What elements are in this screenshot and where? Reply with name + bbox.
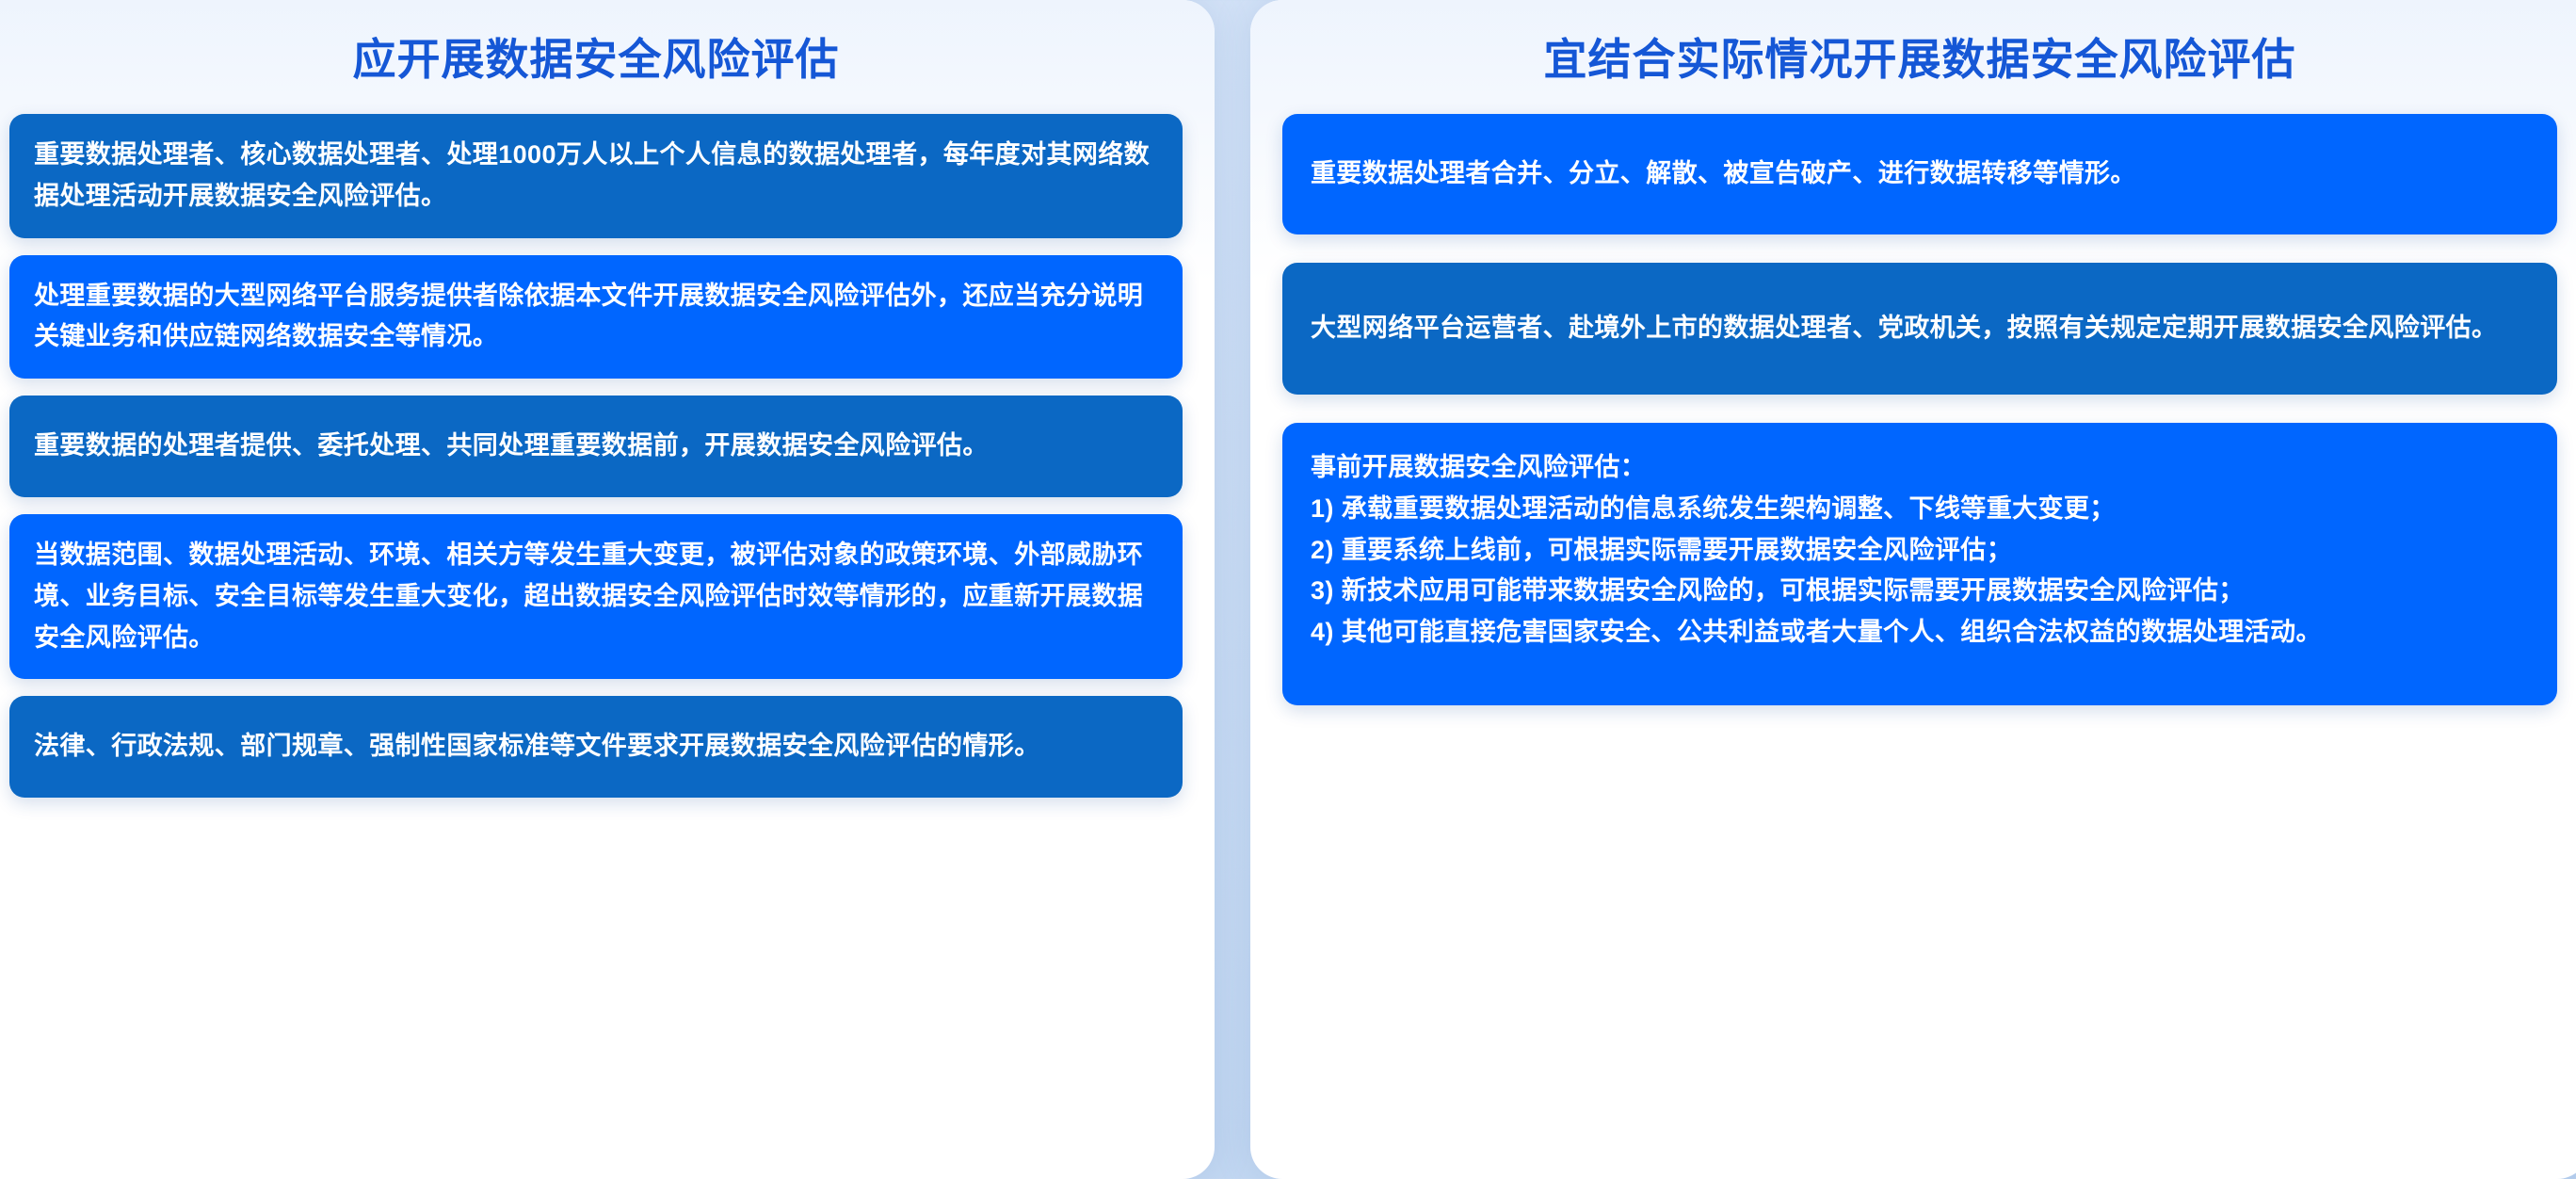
left-panel: 应开展数据安全风险评估 重要数据处理者、核心数据处理者、处理1000万人以上个人…	[0, 0, 1215, 1179]
card-text: 重要数据处理者合并、分立、解散、被宣告破产、进行数据转移等情形。	[1311, 153, 2529, 195]
card-text: 重要数据的处理者提供、委托处理、共同处理重要数据前，开展数据安全风险评估。	[34, 426, 1158, 467]
list-item: 当数据范围、数据处理活动、环境、相关方等发生重大变更，被评估对象的政策环境、外部…	[9, 514, 1183, 679]
left-panel-card-list: 重要数据处理者、核心数据处理者、处理1000万人以上个人信息的数据处理者，每年度…	[9, 114, 1183, 1179]
infographic-board: 应开展数据安全风险评估 重要数据处理者、核心数据处理者、处理1000万人以上个人…	[0, 0, 2576, 1179]
right-panel-card-list: 重要数据处理者合并、分立、解散、被宣告破产、进行数据转移等情形。 大型网络平台运…	[1282, 114, 2557, 1179]
list-item: 大型网络平台运营者、赴境外上市的数据处理者、党政机关，按照有关规定定期开展数据安…	[1282, 263, 2557, 395]
list-item: 重要数据的处理者提供、委托处理、共同处理重要数据前，开展数据安全风险评估。	[9, 396, 1183, 497]
card-text: 处理重要数据的大型网络平台服务提供者除依据本文件开展数据安全风险评估外，还应当充…	[34, 276, 1158, 358]
list-item: 重要数据处理者、核心数据处理者、处理1000万人以上个人信息的数据处理者，每年度…	[9, 114, 1183, 237]
right-panel: 宜结合实际情况开展数据安全风险评估 重要数据处理者合并、分立、解散、被宣告破产、…	[1250, 0, 2576, 1179]
list-item: 处理重要数据的大型网络平台服务提供者除依据本文件开展数据安全风险评估外，还应当充…	[9, 255, 1183, 379]
left-panel-title: 应开展数据安全风险评估	[9, 0, 1183, 114]
list-item: 重要数据处理者合并、分立、解散、被宣告破产、进行数据转移等情形。	[1282, 114, 2557, 234]
right-panel-title: 宜结合实际情况开展数据安全风险评估	[1282, 0, 2557, 114]
card-text: 当数据范围、数据处理活动、环境、相关方等发生重大变更，被评估对象的政策环境、外部…	[34, 535, 1158, 658]
card-text: 法律、行政法规、部门规章、强制性国家标准等文件要求开展数据安全风险评估的情形。	[34, 726, 1158, 767]
card-text: 重要数据处理者、核心数据处理者、处理1000万人以上个人信息的数据处理者，每年度…	[34, 135, 1158, 217]
list-item: 法律、行政法规、部门规章、强制性国家标准等文件要求开展数据安全风险评估的情形。	[9, 696, 1183, 798]
card-text: 大型网络平台运营者、赴境外上市的数据处理者、党政机关，按照有关规定定期开展数据安…	[1311, 308, 2529, 349]
card-text: 事前开展数据安全风险评估： 1) 承载重要数据处理活动的信息系统发生架构调整、下…	[1311, 447, 2529, 654]
list-item: 事前开展数据安全风险评估： 1) 承载重要数据处理活动的信息系统发生架构调整、下…	[1282, 423, 2557, 705]
